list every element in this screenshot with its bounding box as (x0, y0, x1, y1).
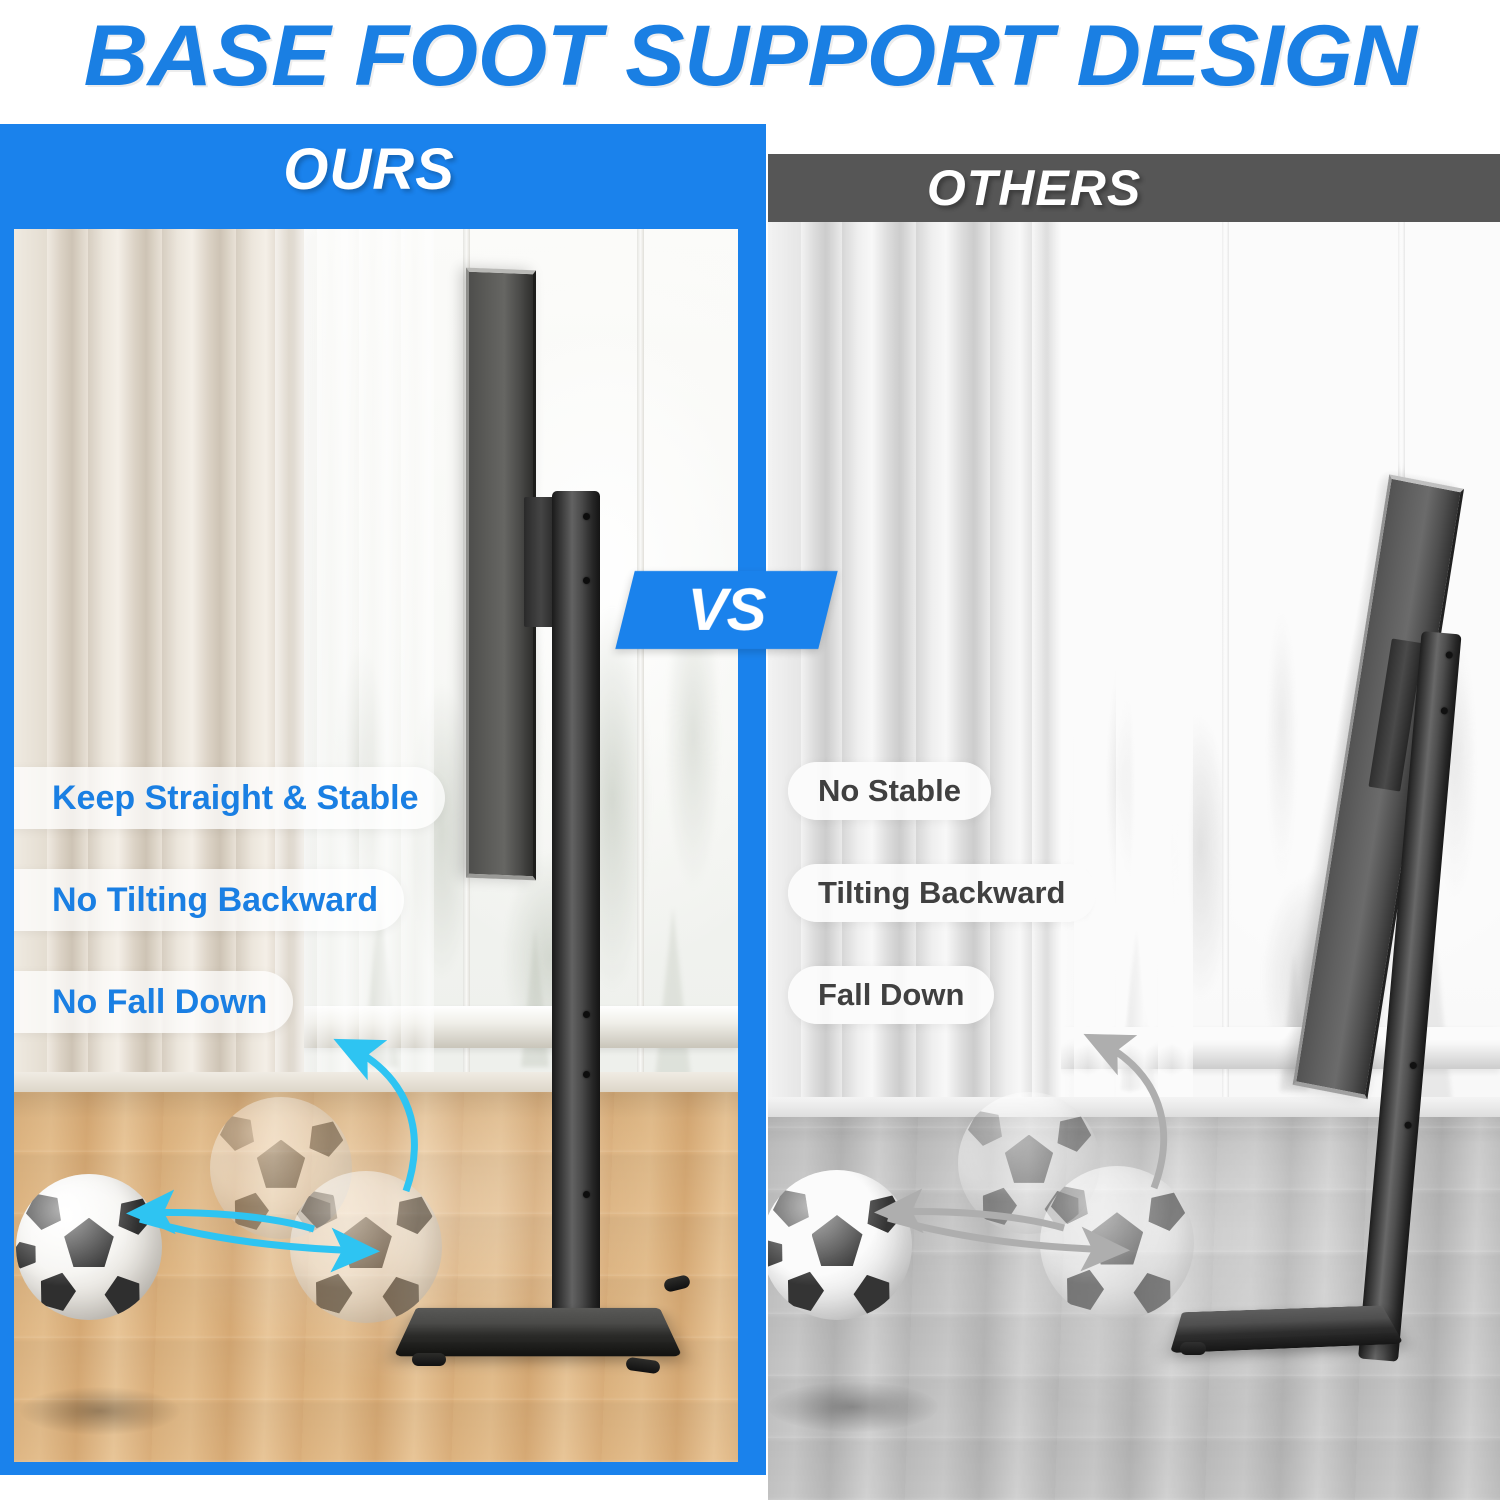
ours-feature-pill: Keep Straight & Stable (14, 767, 445, 829)
others-feature-pill: Fall Down (788, 966, 994, 1024)
infographic-root: BASE FOOT SUPPORT DESIGN OURS OTHERS (0, 0, 1500, 1500)
others-feature-label: Tilting Backward (818, 875, 1066, 911)
screw-icon (1440, 707, 1448, 715)
screw-icon (583, 1071, 590, 1078)
screw-icon (583, 577, 590, 584)
base-foot-pad (1180, 1342, 1206, 1355)
ball-shadow (20, 1387, 180, 1435)
screw-icon (583, 1011, 590, 1018)
others-panel: No Stable Tilting Backward Fall Down (768, 222, 1500, 1500)
vs-badge-label: VS (625, 571, 828, 649)
ours-panel: Keep Straight & Stable No Tilting Backwa… (0, 216, 766, 1475)
screw-icon (1404, 1121, 1412, 1129)
others-banner: OTHERS (768, 154, 1500, 222)
ball-sheen (290, 1171, 442, 1323)
stand-pole (552, 491, 600, 1351)
base-foot-pad (412, 1353, 446, 1366)
others-banner-label: OTHERS (668, 154, 1400, 222)
ours-room-scene: Keep Straight & Stable No Tilting Backwa… (14, 229, 738, 1462)
soccer-ball (768, 1170, 912, 1320)
others-feature-label: Fall Down (818, 977, 964, 1013)
soccer-ball-ghost (290, 1171, 442, 1323)
window-mullion (637, 229, 644, 1080)
screw-icon (1409, 1062, 1417, 1070)
screw-icon (583, 1191, 590, 1198)
page-title: BASE FOOT SUPPORT DESIGN (0, 6, 1500, 106)
others-feature-pill: No Stable (788, 762, 991, 820)
ours-photo: Keep Straight & Stable No Tilting Backwa… (14, 229, 738, 1462)
soccer-ball (16, 1174, 162, 1320)
ours-banner-label: OURS (0, 124, 752, 216)
ours-feature-label: No Tilting Backward (52, 881, 378, 920)
ours-feature-pill: No Fall Down (14, 971, 293, 1033)
baseboard (14, 1072, 738, 1092)
ball-sheen (16, 1174, 162, 1320)
ours-feature-pill: No Tilting Backward (14, 869, 404, 931)
others-photo: No Stable Tilting Backward Fall Down (768, 222, 1500, 1500)
ball-shadow (768, 1382, 938, 1432)
window-mullion (1222, 222, 1229, 1104)
others-feature-pill: Tilting Backward (788, 864, 1096, 922)
ball-sheen (1040, 1166, 1194, 1320)
ours-banner: OURS (0, 124, 766, 216)
screw-icon (1445, 651, 1453, 659)
ball-sheen (768, 1170, 912, 1320)
ours-feature-label: Keep Straight & Stable (52, 779, 419, 818)
soccer-ball-ghost (1040, 1166, 1194, 1320)
screw-icon (583, 513, 590, 520)
others-feature-label: No Stable (818, 773, 961, 809)
vs-badge: VS (615, 571, 837, 649)
ours-feature-label: No Fall Down (52, 983, 267, 1022)
others-room-scene: No Stable Tilting Backward Fall Down (768, 222, 1500, 1500)
